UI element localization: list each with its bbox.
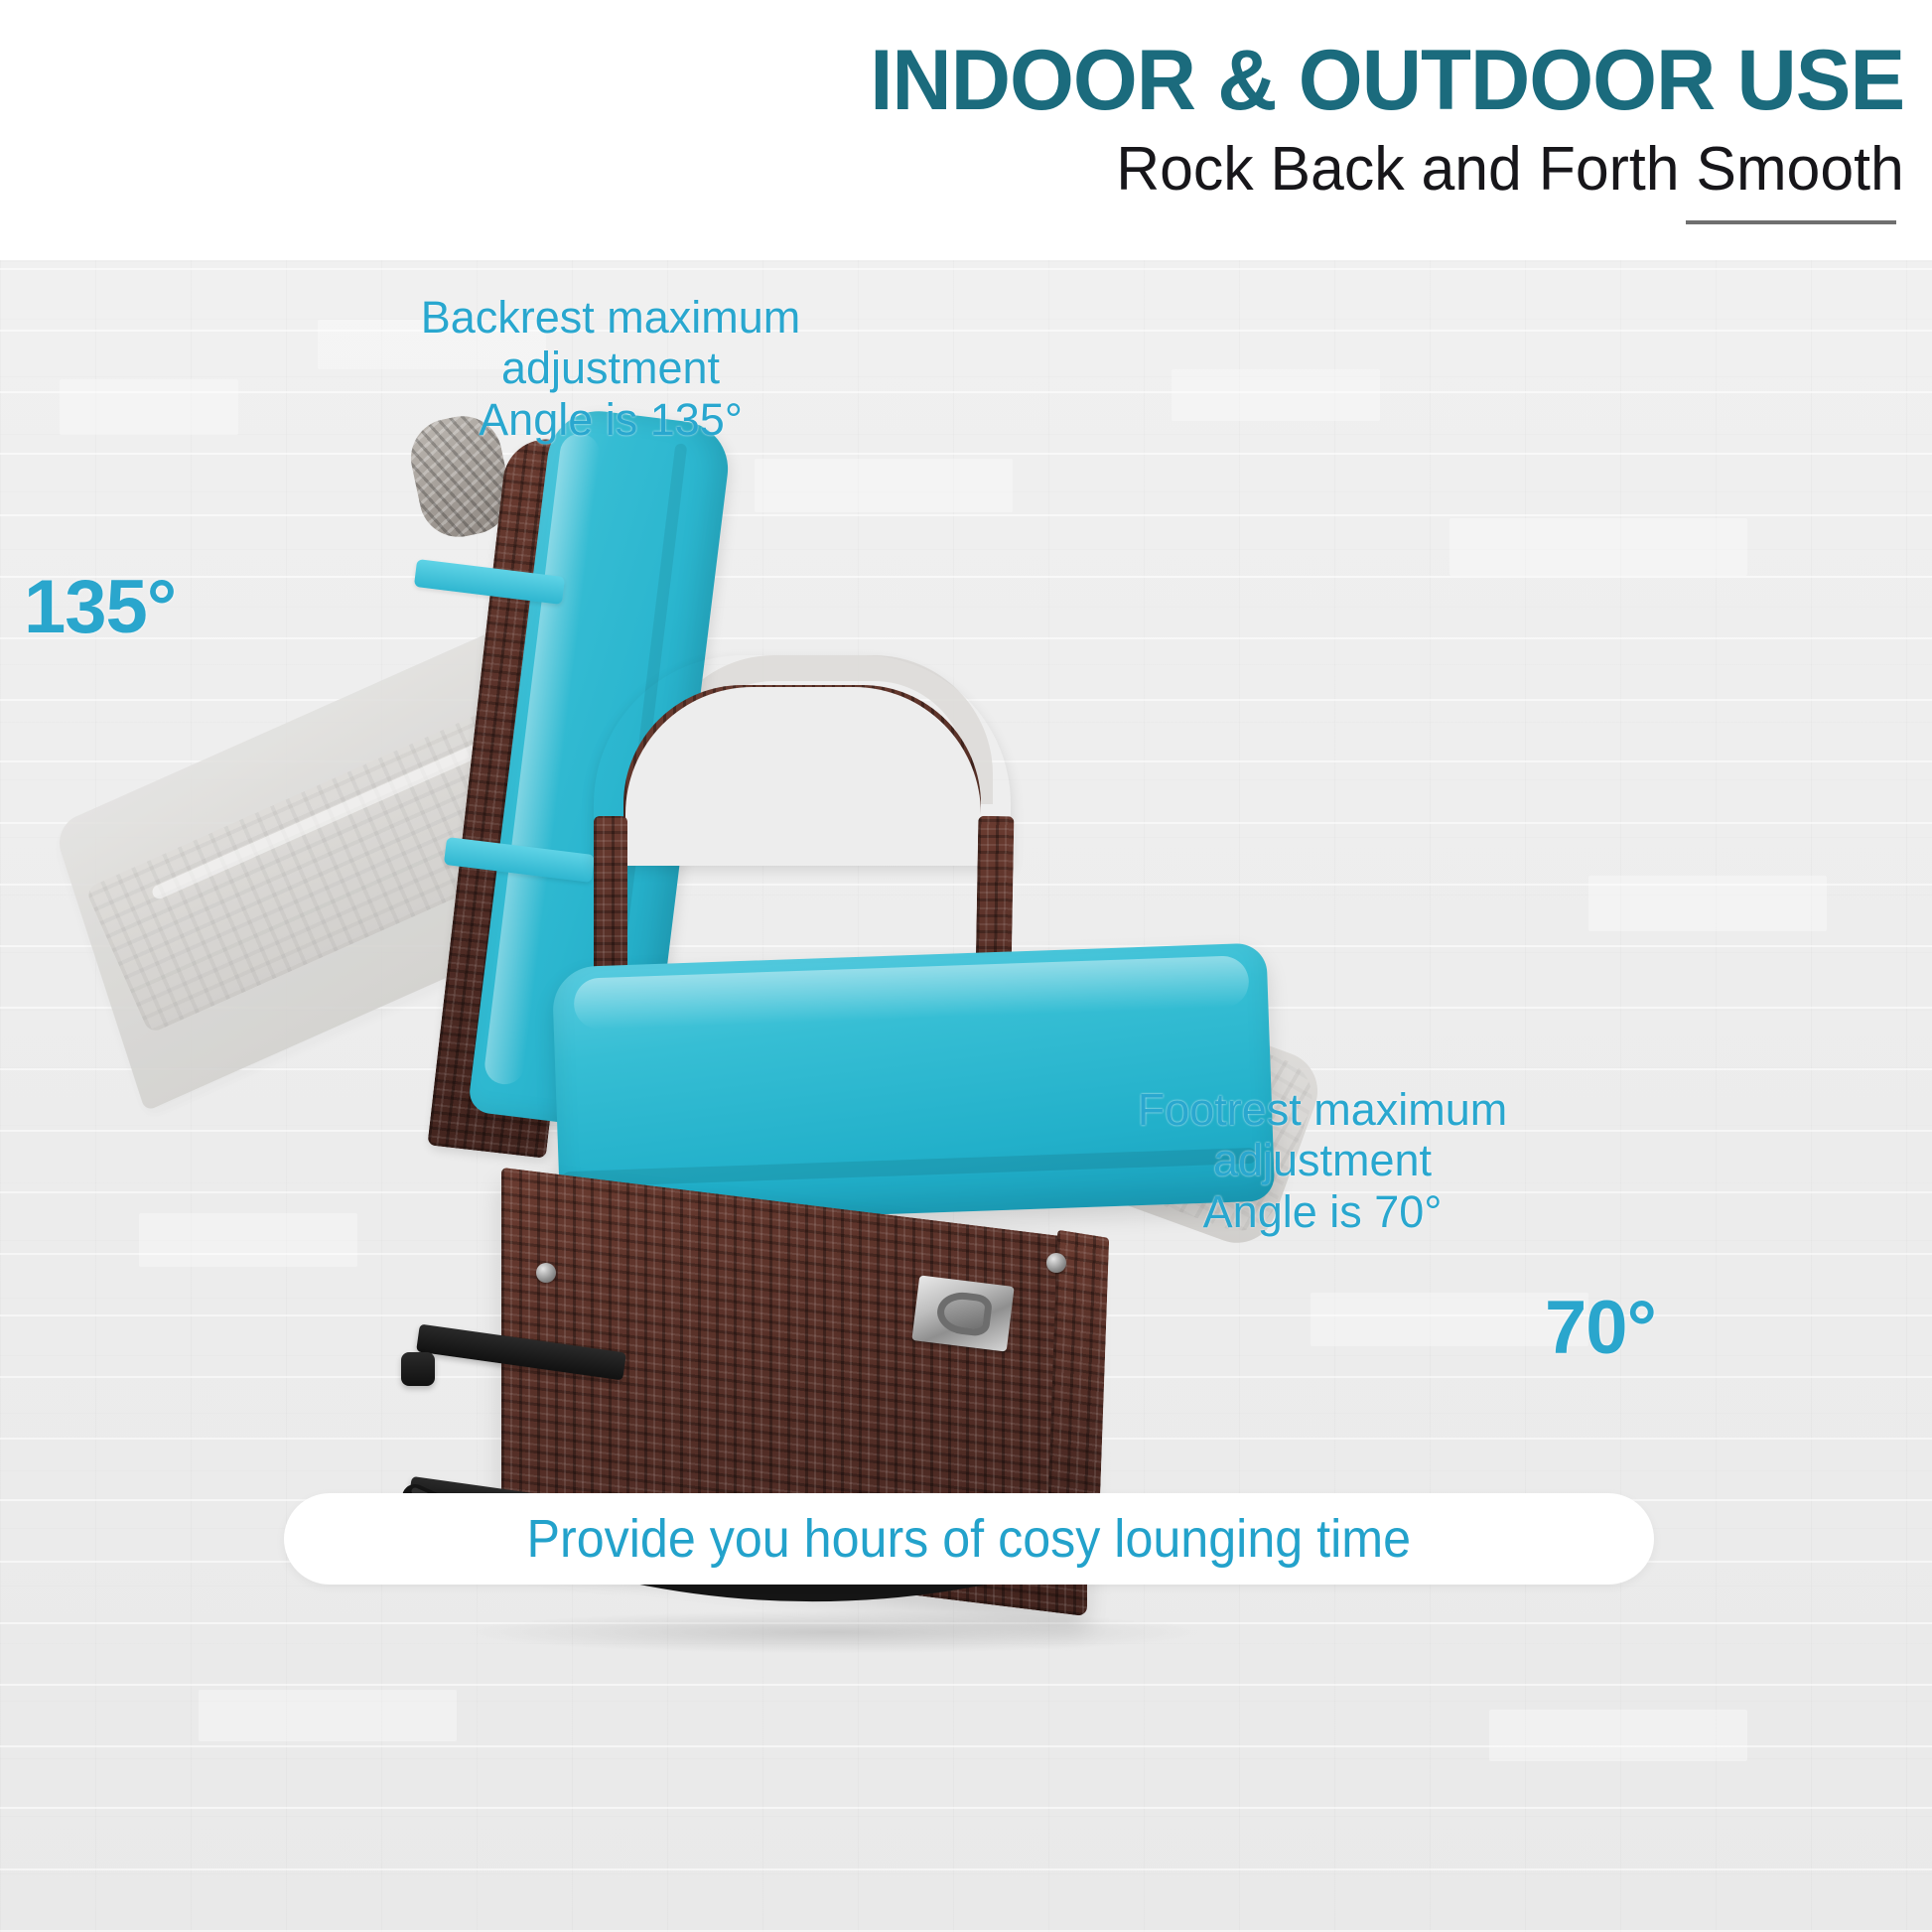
footrest-angle-value: 70° [1545,1291,1656,1366]
front-foot-pad [401,1352,435,1386]
page-subtitle: Rock Back and Forth Smooth [1116,139,1904,201]
caption-text: Provide you hours of cosy lounging time [527,1508,1412,1570]
caption-pill: Provide you hours of cosy lounging time [284,1493,1654,1585]
header-divider-rule [1686,220,1896,224]
chair-ground-shadow [457,1610,1211,1654]
footrest-annotation-label: Footrest maximum adjustment Angle is 70° [1064,1084,1581,1237]
armrest-opening [625,687,981,866]
header-band: INDOOR & OUTDOOR USE Rock Back and Forth… [0,0,1932,260]
rocking-recliner-chair-illustration [0,260,1932,1932]
product-scene: Backrest maximum adjustment Angle is 135… [0,260,1932,1932]
frame-bolt [1046,1253,1066,1273]
frame-bolt [536,1263,556,1283]
backrest-annotation-label: Backrest maximum adjustment Angle is 135… [352,292,869,445]
page-title: INDOOR & OUTDOOR USE [870,38,1904,123]
backrest-angle-value: 135° [24,570,176,645]
